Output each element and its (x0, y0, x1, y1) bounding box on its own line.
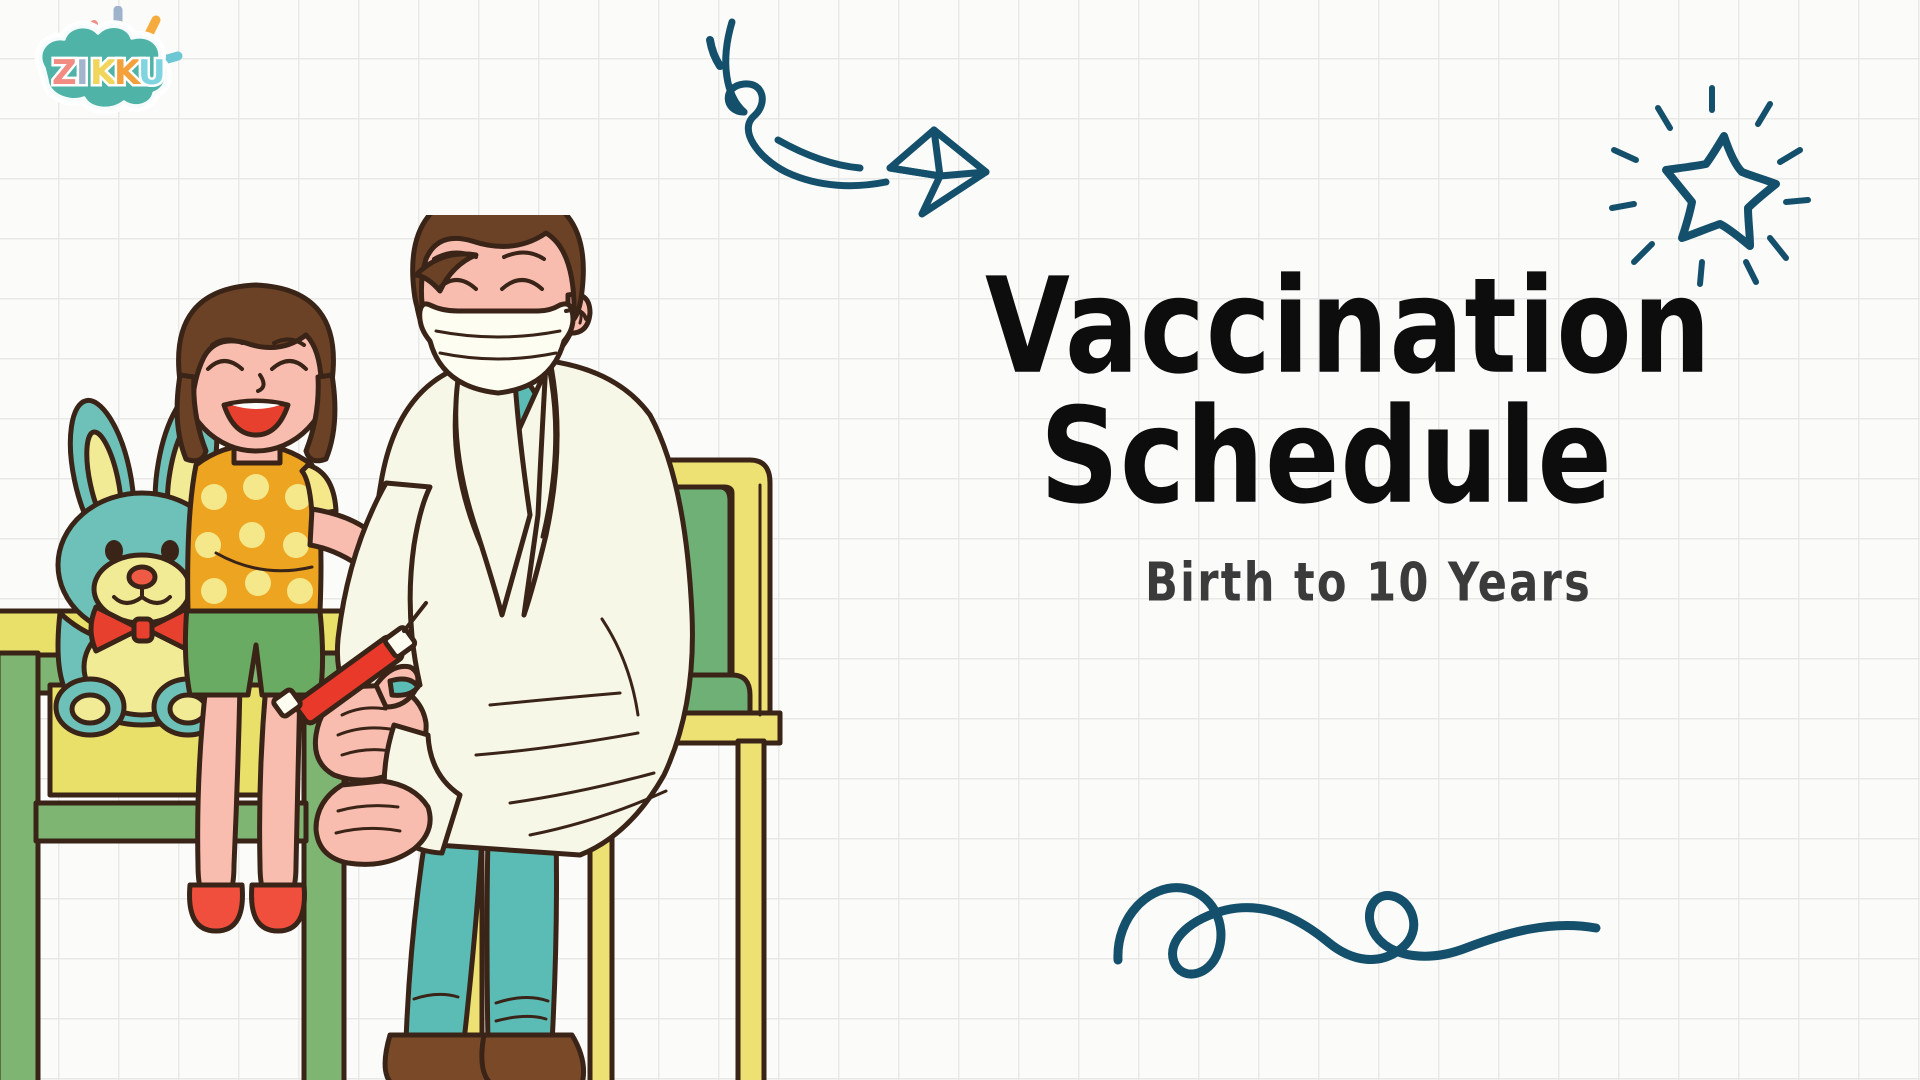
zikku-logo-svg: Z I K K U (14, 6, 214, 126)
swirl-flourish-icon (1100, 840, 1640, 1000)
page-title-line-2: Schedule (1040, 392, 1751, 522)
bunny-eye-left (105, 540, 123, 562)
swirl-path (1118, 888, 1596, 974)
zikku-logo[interactable]: Z I K K U (14, 6, 214, 126)
poster-canvas: Z I K K U (0, 0, 1920, 1080)
logo-letter-i: I (76, 53, 89, 93)
logo-letter-z: Z (52, 53, 77, 93)
bunny-nose (129, 567, 155, 587)
page-title-line-1: Vaccination (985, 262, 1748, 392)
page-subtitle: Birth to 10 Years (1145, 551, 1739, 614)
bunny-eye-right (161, 540, 179, 562)
logo-letter-u: U (138, 53, 166, 93)
sparkle-teal (164, 56, 178, 60)
dress-polka-dots (195, 474, 313, 604)
star-outline (1666, 136, 1776, 246)
title-block: Vaccination Schedule Birth to 10 Years (985, 262, 1805, 607)
logo-wordmark: Z I K K U (52, 53, 166, 93)
doctor-vaccinating-child: .ol { stroke:#3a2417; stroke-width:5; st… (0, 215, 950, 1080)
